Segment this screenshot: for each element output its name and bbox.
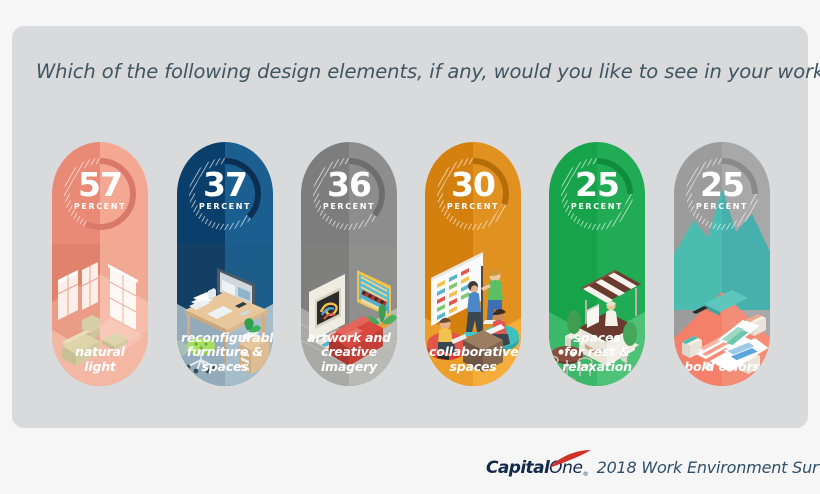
stat-label: natural light: [56, 345, 144, 374]
stat-label-line: creative: [305, 345, 393, 360]
stat-unit: PERCENT: [549, 202, 645, 211]
stat-value: 25: [549, 168, 645, 201]
stat-label-line: for rest &: [553, 345, 641, 360]
stat-label-line: light: [56, 360, 144, 375]
stat-unit: PERCENT: [177, 202, 273, 211]
logo-trademark: ®: [583, 471, 589, 478]
stat-unit: PERCENT: [301, 202, 397, 211]
stat-label-line: bold colors: [678, 360, 766, 375]
logo-capital-text: Capital: [486, 458, 549, 478]
stat-label: reconfigurable furniture & spaces: [181, 331, 269, 375]
stat-pill-reconfigurable-furniture[interactable]: 37 PERCENT reconfigurable furniture & sp…: [177, 142, 273, 386]
stat-value: 57: [52, 168, 148, 201]
stat-value: 37: [177, 168, 273, 201]
stat-label-line: artwork and: [305, 331, 393, 346]
stat-label: bold colors: [678, 360, 766, 375]
survey-title: 2018 Work Environment Survey: [597, 458, 820, 477]
stat-pill-artwork-imagery[interactable]: 36 PERCENT artwork and creative imagery: [301, 142, 397, 386]
stat-unit: PERCENT: [674, 202, 770, 211]
stat-label-line: imagery: [305, 360, 393, 375]
stat-label: artwork and creative imagery: [305, 331, 393, 375]
stat-pill-bold-colors[interactable]: 25 PERCENT bold colors: [674, 142, 770, 386]
page-title: Which of the following design elements, …: [36, 60, 796, 83]
stat-label-line: reconfigurable: [181, 331, 269, 346]
stat-label-line: spaces: [553, 331, 641, 346]
stat-label-line: natural: [56, 345, 144, 360]
footer: Capital One ® 2018 Work Environment Surv…: [486, 452, 820, 482]
stat-label-line: spaces: [429, 360, 517, 375]
stat-pill-rest-relaxation[interactable]: COFFEE: [549, 142, 645, 386]
stat-label-line: furniture &: [181, 345, 269, 360]
stat-label: spaces for rest & relaxation: [553, 331, 641, 375]
stat-pill-collaborative-spaces[interactable]: 30 PERCENT collaborative spaces: [425, 142, 521, 386]
stat-value: 25: [674, 168, 770, 201]
stat-unit: PERCENT: [52, 202, 148, 211]
stat-label-line: collaborative: [429, 345, 517, 360]
stat-label-line: relaxation: [553, 360, 641, 375]
stat-pill-natural-light[interactable]: 57 PERCENT natural light: [52, 142, 148, 386]
stat-value: 30: [425, 168, 521, 201]
infographic-root: Which of the following design elements, …: [0, 0, 820, 494]
stat-label-line: spaces: [181, 360, 269, 375]
stat-unit: PERCENT: [425, 202, 521, 211]
logo-one-text: One: [549, 458, 582, 478]
capital-one-logo: Capital One ®: [486, 456, 589, 478]
stat-label: collaborative spaces: [429, 345, 517, 374]
stat-value: 36: [301, 168, 397, 201]
